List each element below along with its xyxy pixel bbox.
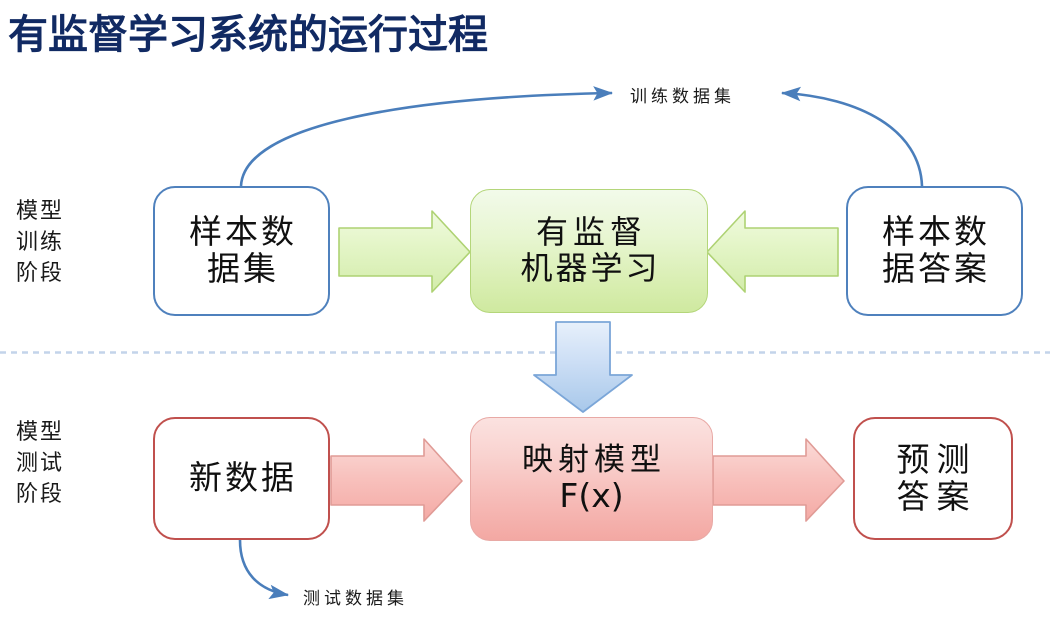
- stage-char: 阶: [16, 479, 38, 510]
- box-sample-answers-line1: 样本数: [879, 214, 990, 251]
- box-sample-answers[interactable]: 样本数 据答案: [846, 186, 1023, 316]
- stage-label-testing-col-left: 模 测 阶: [16, 417, 38, 511]
- box-new-data-line1: 新数据: [186, 460, 297, 497]
- box-sample-dataset-line1: 样本数: [186, 214, 297, 251]
- stage-char: 模: [16, 417, 38, 448]
- stage-label-training-col-right: 型 练 段: [40, 196, 62, 290]
- curve-newdata-to-test-dataset: [240, 540, 288, 595]
- green-arrow-answers-to-ml: [707, 211, 838, 292]
- stage-char: 阶: [16, 258, 38, 289]
- stage-char: 型: [40, 196, 62, 227]
- stage-char: 练: [40, 227, 62, 258]
- box-sample-answers-line2: 据答案: [879, 251, 990, 288]
- box-new-data[interactable]: 新数据: [153, 417, 330, 540]
- box-predicted-answers-line2: 答案: [890, 479, 977, 516]
- box-predicted-answers[interactable]: 预测 答案: [853, 417, 1013, 540]
- red-arrow-model-to-predicted: [713, 439, 844, 521]
- red-arrow-newdata-to-model: [331, 439, 462, 521]
- box-mapping-model-line1: 映射模型: [517, 443, 666, 478]
- box-predicted-answers-line1: 预测: [890, 442, 977, 479]
- box-supervised-ml-line2: 机器学习: [517, 251, 660, 287]
- box-supervised-ml-line1: 有监督: [531, 215, 647, 251]
- curve-sample-to-train-dataset: [241, 93, 612, 186]
- stage-char: 训: [16, 227, 38, 258]
- stage-char: 试: [40, 448, 62, 479]
- stage-char: 测: [16, 448, 38, 479]
- green-arrow-sample-to-ml: [339, 211, 470, 292]
- label-train-dataset: 训练数据集: [630, 82, 735, 107]
- box-supervised-ml[interactable]: 有监督 机器学习: [470, 189, 708, 313]
- stage-char: 段: [40, 258, 62, 289]
- stage-label-training-col-left: 模 训 阶: [16, 196, 38, 290]
- stage-label-testing-col-right: 型 试 段: [40, 417, 62, 511]
- box-sample-dataset-line2: 据集: [204, 251, 279, 288]
- stage-char: 段: [40, 479, 62, 510]
- box-mapping-model-line2: F(x): [559, 478, 623, 515]
- diagram-canvas: 有监督学习系统的运行过程: [0, 0, 1050, 635]
- label-test-dataset: 测试数据集: [303, 584, 408, 609]
- stage-char: 型: [40, 417, 62, 448]
- box-mapping-model[interactable]: 映射模型 F(x): [470, 417, 713, 541]
- blue-arrow-ml-to-model: [534, 322, 632, 412]
- stage-label-training: 型 练 段 模 训 阶: [16, 196, 62, 290]
- stage-label-testing: 型 试 段 模 测 阶: [16, 417, 62, 511]
- box-sample-dataset[interactable]: 样本数 据集: [153, 186, 330, 316]
- curve-answers-to-train-dataset: [782, 93, 922, 186]
- stage-char: 模: [16, 196, 38, 227]
